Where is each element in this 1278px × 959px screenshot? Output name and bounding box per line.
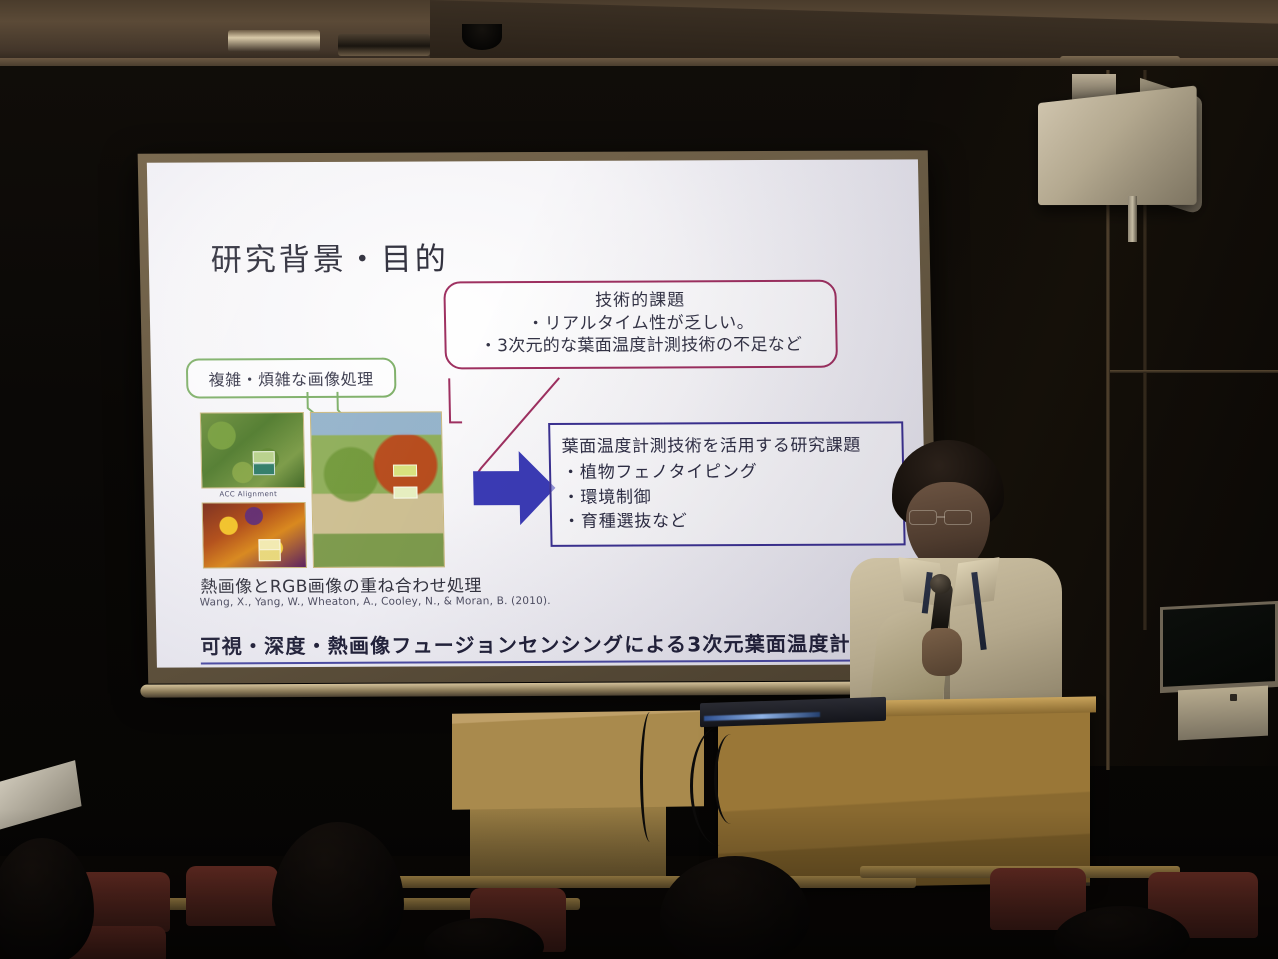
reference-patch — [259, 549, 281, 561]
reference-patch — [393, 486, 417, 498]
projection-screen: 研究背景・目的 技術的課題 ・リアルタイム性が乏しい。 ・3次元的な葉面温度計測… — [138, 150, 939, 683]
thermal-image — [202, 502, 307, 568]
wall-monitor — [1160, 601, 1278, 693]
auditorium-seat — [186, 866, 278, 926]
lecture-hall-scene: 研究背景・目的 技術的課題 ・リアルタイム性が乏しい。 ・3次元的な葉面温度計測… — [0, 0, 1278, 959]
monitor-stand — [1178, 686, 1268, 741]
wall-trim-horizontal — [1110, 370, 1278, 373]
reference-patch — [393, 465, 417, 477]
ceiling-light — [338, 34, 430, 56]
lectern — [718, 704, 1090, 889]
figure-citation: Wang, X., Yang, W., Wheaton, A., Cooley,… — [200, 595, 551, 609]
rgb-vineyard-image — [200, 412, 306, 488]
slide-banner: 可視・深度・熱画像フュージョンセンシングによる3次元葉面温度計測法の開 — [200, 627, 901, 664]
eyeglasses-icon — [909, 510, 937, 525]
slide-banner-text: 可視・深度・熱画像フュージョンセンシングによる3次元葉面温度計測法の開 — [200, 627, 901, 659]
eyeglasses-icon — [944, 510, 972, 525]
audience-desk — [396, 876, 916, 888]
speaker-mount-pole — [1128, 196, 1137, 242]
audience-head — [0, 838, 94, 959]
slide-title: 研究背景・目的 — [210, 233, 449, 279]
figure-image-montage: ACC Alignment — [200, 409, 445, 568]
figure-caption: 熱画像とRGB画像の重ね合わせ処理 — [200, 571, 482, 597]
blue-right-arrow-icon — [471, 443, 559, 533]
callout-complex-processing: 複雑・煩雑な画像処理 — [186, 358, 397, 399]
reference-patch — [253, 452, 275, 464]
reference-patch — [253, 463, 275, 475]
ceiling-dome-sensor — [462, 24, 502, 50]
side-table-base — [470, 799, 666, 888]
presentation-slide: 研究背景・目的 技術的課題 ・リアルタイム性が乏しい。 ・3次元的な葉面温度計測… — [147, 159, 928, 667]
presenter-hand — [922, 628, 962, 676]
cable — [714, 734, 748, 824]
acc-alignment-label: ACC Alignment — [219, 490, 277, 498]
fused-thermal-rgb-overlay — [310, 411, 445, 568]
monitor-power-led — [1230, 694, 1237, 701]
callout-magenta-heading: 技術的課題 — [455, 289, 824, 313]
ceiling-light — [228, 30, 320, 52]
eyeglasses-bridge — [937, 516, 945, 518]
callout-technical-issues: 技術的課題 ・リアルタイム性が乏しい。 ・3次元的な葉面温度計測技術の不足など — [443, 280, 838, 370]
cable — [640, 712, 660, 842]
wall-speaker — [1038, 85, 1197, 205]
callout-magenta-line-3: ・3次元的な葉面温度計測技術の不足など — [456, 334, 825, 358]
side-table — [452, 710, 704, 810]
screen-surface: 研究背景・目的 技術的課題 ・リアルタイム性が乏しい。 ・3次元的な葉面温度計測… — [147, 159, 928, 667]
callout-magenta-line-2: ・リアルタイム性が乏しい。 — [456, 311, 825, 335]
